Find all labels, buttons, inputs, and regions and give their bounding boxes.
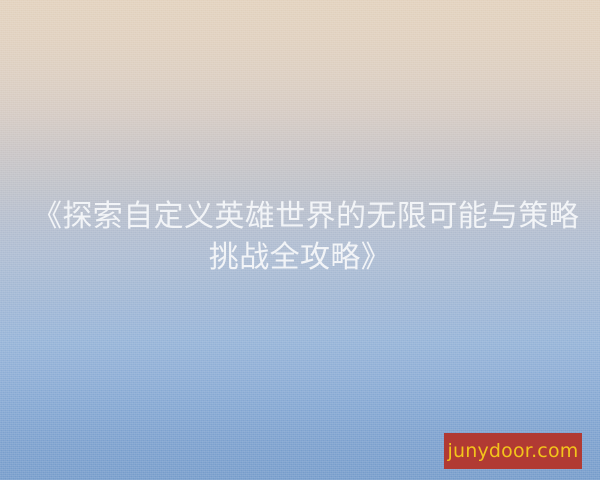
cover-image: 《探索自定义英雄世界的无限可能与策略 挑战全攻略》 junydoor.com (0, 0, 600, 480)
watermark-label: junydoor.com (447, 442, 578, 461)
watermark-badge: junydoor.com (444, 433, 582, 469)
title-line-1: 《探索自定义英雄世界的无限可能与策略 (32, 196, 568, 237)
page-title: 《探索自定义英雄世界的无限可能与策略 挑战全攻略》 (0, 196, 600, 278)
title-line-2: 挑战全攻略》 (32, 237, 568, 278)
